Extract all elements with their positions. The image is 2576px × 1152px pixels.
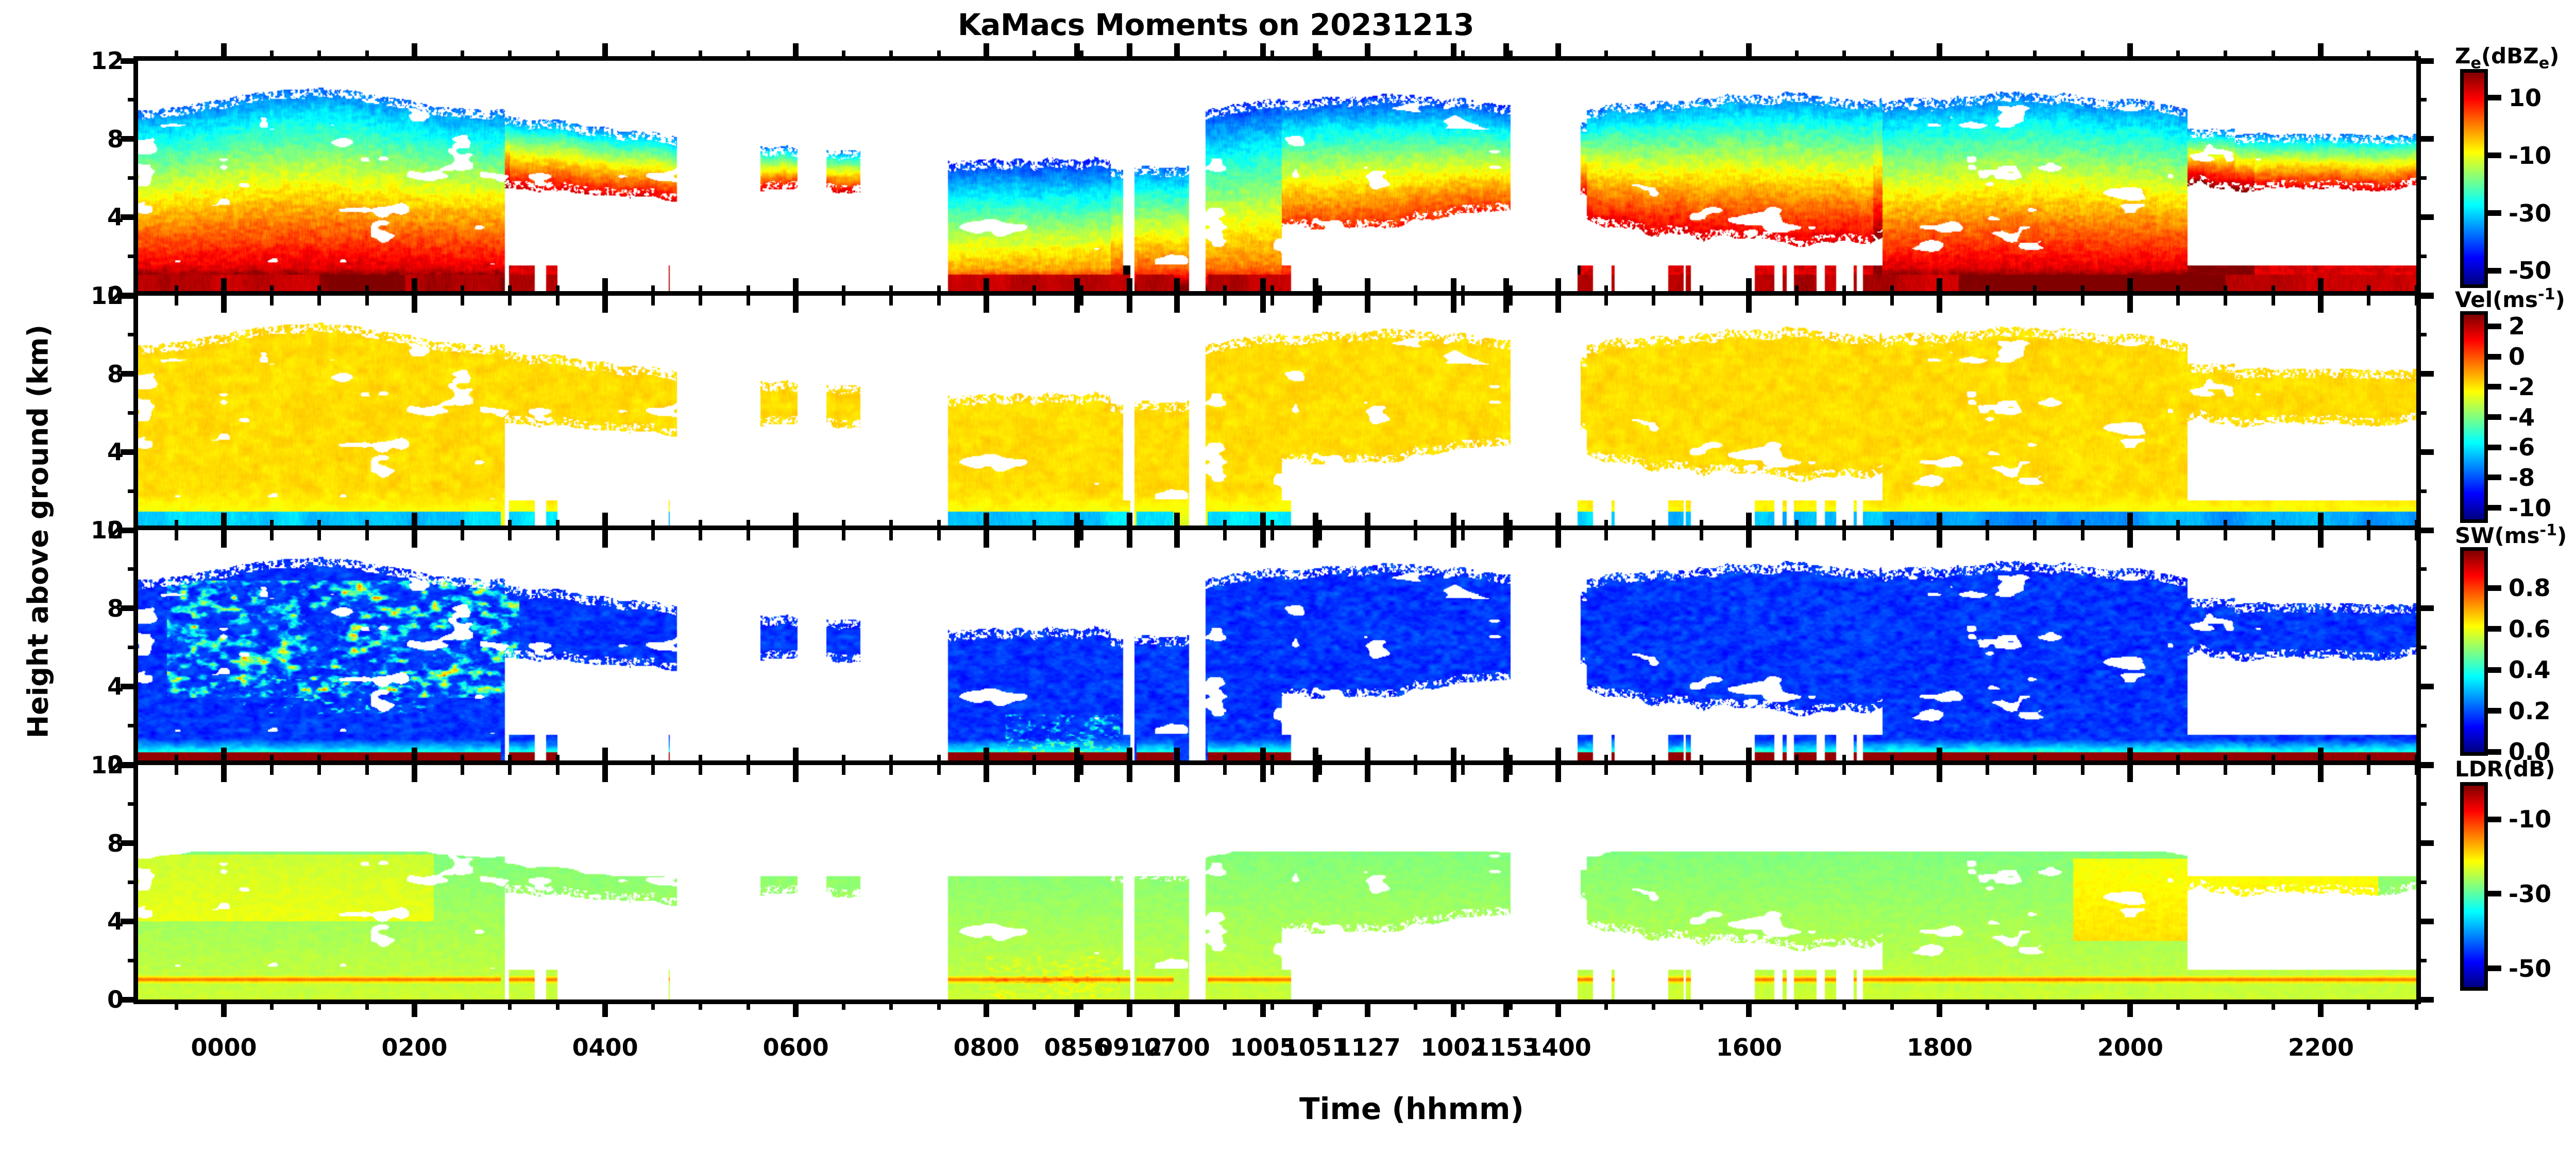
x-tick-major	[412, 999, 417, 1017]
x-tick-major	[984, 999, 989, 1017]
vel-colorbar-tick	[2488, 384, 2501, 389]
x-tick-minor-top	[1318, 755, 1322, 765]
x-tick-major	[1746, 999, 1752, 1017]
x-tick-minor-top	[1270, 285, 1274, 296]
y-tick-minor	[128, 98, 138, 101]
y-tick-minor	[128, 176, 138, 180]
x-tick-minor-top	[1414, 755, 1417, 765]
x-tick-major-top	[984, 513, 989, 530]
y-tick-minor-right	[2416, 176, 2427, 180]
x-tick-minor-top	[317, 285, 321, 296]
x-tick-minor-top	[175, 50, 178, 61]
x-tick-major-top	[221, 513, 227, 530]
x-tick-minor	[651, 999, 655, 1010]
x-tick-minor-top	[1223, 50, 1227, 61]
y-tick-minor	[128, 411, 138, 415]
x-tick-minor-top	[1795, 520, 1799, 530]
y-tick-label: 12	[57, 751, 124, 779]
x-tick-minor-top	[699, 50, 702, 61]
x-tick-major-top	[1365, 278, 1370, 296]
x-tick-major-top	[984, 43, 989, 61]
x-tick-minor	[699, 765, 702, 775]
x-tick-major	[1313, 295, 1318, 313]
y-tick-label: 8	[57, 360, 124, 388]
panel-vel	[133, 291, 2421, 535]
y-tick-minor	[128, 802, 138, 806]
x-tick-minor	[2272, 765, 2275, 775]
x-tick-minor-top	[937, 50, 941, 61]
x-tick-label: 0700	[1144, 1034, 1210, 1061]
x-tick-minor-top	[1652, 755, 1655, 765]
x-tick-minor-top	[317, 755, 321, 765]
x-tick-major	[1555, 765, 1561, 782]
sw-colorbar-tick	[2488, 708, 2501, 714]
x-tick-major-top	[2127, 43, 2133, 61]
x-tick-major-top	[1451, 43, 1456, 61]
x-tick-major	[2127, 999, 2133, 1017]
x-tick-minor-top	[556, 285, 560, 296]
x-tick-minor	[651, 765, 655, 775]
ldr-colorbar-tick	[2488, 891, 2501, 896]
x-tick-major	[1074, 295, 1080, 313]
x-tick-major-top	[2318, 748, 2324, 765]
vel-colorbar-tick	[2488, 505, 2501, 511]
x-tick-minor-top	[461, 285, 464, 296]
x-tick-major	[412, 530, 417, 548]
x-tick-minor	[2033, 530, 2037, 540]
y-tick-label: 0	[57, 986, 124, 1013]
x-tick-minor	[1414, 530, 1417, 540]
x-tick-minor	[2176, 765, 2180, 775]
x-tick-major	[1174, 295, 1180, 313]
y-tick-label: 8	[57, 829, 124, 857]
x-tick-minor-top	[1080, 755, 1083, 765]
y-tick-minor	[128, 255, 138, 258]
x-tick-minor-top	[1318, 50, 1322, 61]
x-tick-major	[412, 295, 417, 313]
x-tick-major-top	[221, 748, 227, 765]
x-tick-minor	[1652, 999, 1655, 1010]
panel-sw-heatmap	[138, 530, 2416, 765]
x-tick-major-top	[2318, 513, 2324, 530]
x-tick-minor-top	[2367, 520, 2370, 530]
y-tick-minor	[128, 880, 138, 884]
x-tick-minor	[2176, 999, 2180, 1010]
x-tick-minor-top	[2224, 285, 2227, 296]
x-tick-minor-top	[1080, 285, 1083, 296]
x-tick-minor	[365, 295, 369, 306]
x-tick-major-top	[1260, 43, 1266, 61]
y-tick-minor-right	[2416, 489, 2427, 493]
x-tick-minor	[365, 765, 369, 775]
x-tick-minor	[937, 295, 941, 306]
x-tick-minor	[1509, 530, 1513, 540]
x-tick-minor	[747, 295, 750, 306]
x-tick-minor-top	[1842, 285, 1846, 296]
x-tick-major-top	[1313, 748, 1318, 765]
z-colorbar-tick	[2488, 210, 2501, 216]
x-tick-major	[1503, 765, 1509, 782]
x-tick-minor-top	[2176, 755, 2180, 765]
x-tick-major-top	[1174, 278, 1180, 296]
sw-colorbar-tick-label: 0.4	[2509, 656, 2551, 684]
x-tick-minor	[1509, 295, 1513, 306]
x-tick-minor	[889, 530, 893, 540]
x-tick-minor-top	[270, 50, 274, 61]
x-tick-minor-top	[2033, 520, 2037, 530]
x-tick-minor	[1604, 530, 1608, 540]
x-tick-minor-top	[842, 520, 845, 530]
x-tick-major-top	[1074, 278, 1080, 296]
x-tick-minor-top	[1080, 520, 1083, 530]
x-tick-major	[793, 999, 799, 1017]
x-tick-minor-top	[1032, 285, 1036, 296]
x-tick-label: 1400	[1526, 1034, 1591, 1061]
x-tick-minor-top	[1652, 285, 1655, 296]
x-tick-minor	[699, 530, 702, 540]
x-tick-minor-top	[1795, 50, 1799, 61]
x-tick-minor	[1890, 765, 1894, 775]
x-tick-minor-top	[699, 285, 702, 296]
x-tick-minor	[1842, 999, 1846, 1010]
x-tick-major-top	[602, 513, 608, 530]
x-tick-minor-top	[1032, 755, 1036, 765]
x-tick-minor	[1318, 999, 1322, 1010]
x-tick-minor	[2081, 765, 2084, 775]
x-tick-major	[221, 765, 227, 782]
x-tick-minor-top	[2081, 520, 2084, 530]
sw-colorbar-title: SW(ms-1)	[2455, 521, 2567, 548]
x-tick-major-top	[1174, 748, 1180, 765]
x-tick-minor	[2033, 765, 2037, 775]
x-tick-minor	[937, 530, 941, 540]
x-tick-major-top	[1503, 43, 1509, 61]
x-tick-major-top	[1503, 278, 1509, 296]
x-tick-minor	[317, 530, 321, 540]
x-tick-major	[793, 765, 799, 782]
x-tick-minor	[1842, 295, 1846, 306]
x-tick-major-top	[1074, 748, 1080, 765]
x-tick-minor	[1080, 999, 1083, 1010]
x-tick-minor-top	[1223, 755, 1227, 765]
x-tick-major	[221, 999, 227, 1017]
x-tick-minor	[461, 295, 464, 306]
x-tick-minor-top	[365, 285, 369, 296]
x-tick-major-top	[1451, 278, 1456, 296]
x-tick-minor-top	[270, 520, 274, 530]
x-tick-minor	[889, 999, 893, 1010]
x-tick-minor-top	[1604, 50, 1608, 61]
x-tick-major	[1746, 530, 1752, 548]
x-tick-minor	[508, 999, 512, 1010]
y-tick-major-right	[2416, 684, 2434, 689]
y-tick-minor-right	[2416, 959, 2427, 962]
x-tick-minor	[889, 295, 893, 306]
x-tick-major	[602, 765, 608, 782]
x-tick-major	[1260, 530, 1266, 548]
x-tick-major-top	[1937, 43, 1942, 61]
x-tick-minor	[1318, 530, 1322, 540]
x-tick-minor-top	[1461, 520, 1465, 530]
y-tick-minor	[128, 724, 138, 727]
vel-colorbar-tick	[2488, 324, 2501, 329]
x-tick-minor-top	[508, 50, 512, 61]
x-tick-minor-top	[2272, 285, 2275, 296]
x-tick-minor	[1318, 765, 1322, 775]
y-tick-minor-right	[2416, 646, 2427, 649]
x-tick-minor	[365, 999, 369, 1010]
x-tick-minor-top	[317, 50, 321, 61]
x-tick-minor	[2081, 999, 2084, 1010]
x-tick-minor-top	[1652, 520, 1655, 530]
x-tick-minor	[747, 765, 750, 775]
z-colorbar-tick-label: 10	[2509, 84, 2541, 112]
vel-colorbar-tick-label: -4	[2509, 403, 2535, 431]
x-tick-minor	[1509, 765, 1513, 775]
x-tick-minor-top	[508, 520, 512, 530]
x-tick-minor	[2224, 530, 2227, 540]
x-tick-minor	[1795, 999, 1799, 1010]
x-tick-major	[1555, 295, 1561, 313]
x-tick-major	[1313, 765, 1318, 782]
x-tick-minor-top	[1461, 50, 1465, 61]
x-tick-minor	[317, 295, 321, 306]
x-tick-minor	[1032, 999, 1036, 1010]
x-tick-minor	[461, 530, 464, 540]
panel-sw	[133, 526, 2421, 769]
x-tick-minor	[1509, 999, 1513, 1010]
x-tick-minor	[1842, 530, 1846, 540]
x-tick-minor-top	[889, 520, 893, 530]
vel-colorbar-tick-label: -10	[2509, 494, 2551, 522]
y-tick-label: 12	[57, 516, 124, 544]
x-tick-minor	[1414, 999, 1417, 1010]
x-tick-major-top	[1174, 513, 1180, 530]
x-tick-minor-top	[2033, 285, 2037, 296]
x-tick-minor-top	[1842, 50, 1846, 61]
x-tick-major	[1503, 530, 1509, 548]
x-tick-minor-top	[889, 50, 893, 61]
x-tick-minor-top	[175, 755, 178, 765]
x-tick-minor-top	[2224, 50, 2227, 61]
x-tick-label: 1800	[1907, 1034, 1973, 1061]
x-tick-minor	[1652, 765, 1655, 775]
x-tick-minor	[1604, 999, 1608, 1010]
x-tick-minor-top	[1700, 50, 1703, 61]
x-tick-minor	[317, 999, 321, 1010]
x-tick-label: 2200	[2288, 1034, 2354, 1061]
x-tick-major	[221, 295, 227, 313]
vel-colorbar-gradient	[2460, 311, 2488, 523]
ldr-colorbar-tick-label: -30	[2509, 880, 2551, 908]
x-tick-minor	[842, 999, 845, 1010]
x-tick-major	[1260, 295, 1266, 313]
x-tick-major-top	[2127, 278, 2133, 296]
x-tick-major	[1365, 295, 1370, 313]
x-tick-label: 2000	[2097, 1034, 2163, 1061]
x-tick-minor-top	[2081, 50, 2084, 61]
x-tick-minor	[1700, 530, 1703, 540]
sw-colorbar-tick	[2488, 626, 2501, 632]
x-tick-minor-top	[1795, 285, 1799, 296]
x-tick-minor	[508, 295, 512, 306]
x-tick-major-top	[2127, 748, 2133, 765]
x-tick-minor	[1461, 295, 1465, 306]
x-tick-minor	[1223, 765, 1227, 775]
x-tick-minor-top	[556, 520, 560, 530]
x-tick-major	[984, 765, 989, 782]
panel-ldr-heatmap	[138, 765, 2416, 999]
x-tick-minor-top	[1842, 520, 1846, 530]
y-tick-minor-right	[2416, 567, 2427, 571]
x-tick-minor-top	[1509, 285, 1513, 296]
sw-colorbar-tick-label: 0.8	[2509, 574, 2551, 602]
x-tick-major	[2318, 765, 2324, 782]
x-tick-minor	[270, 999, 274, 1010]
x-tick-major-top	[1313, 278, 1318, 296]
x-tick-minor-top	[2224, 755, 2227, 765]
x-tick-minor-top	[1795, 755, 1799, 765]
y-tick-major-right	[2416, 840, 2434, 846]
x-tick-major-top	[412, 278, 417, 296]
y-tick-minor-right	[2416, 98, 2427, 101]
x-tick-minor-top	[1604, 285, 1608, 296]
x-tick-minor-top	[2033, 50, 2037, 61]
x-tick-minor-top	[937, 755, 941, 765]
panel-z-heatmap	[138, 61, 2416, 295]
x-tick-minor	[365, 530, 369, 540]
x-tick-minor	[842, 765, 845, 775]
y-tick-major-right	[2416, 997, 2434, 1003]
x-tick-minor	[317, 765, 321, 775]
x-tick-minor-top	[1414, 50, 1417, 61]
x-tick-major	[1313, 530, 1318, 548]
x-tick-label: 1600	[1716, 1034, 1782, 1061]
x-tick-minor-top	[747, 755, 750, 765]
x-tick-minor-top	[2415, 755, 2418, 765]
x-tick-major	[412, 765, 417, 782]
x-tick-major	[2318, 530, 2324, 548]
x-tick-minor	[1461, 999, 1465, 1010]
y-tick-major-right	[2416, 528, 2434, 533]
vel-colorbar-tick	[2488, 354, 2501, 360]
x-tick-minor	[2272, 295, 2275, 306]
x-tick-minor	[1461, 530, 1465, 540]
x-tick-minor-top	[2033, 755, 2037, 765]
x-tick-minor	[1223, 295, 1227, 306]
x-tick-minor-top	[556, 755, 560, 765]
x-tick-major	[1451, 765, 1456, 782]
ldr-colorbar-tick	[2488, 965, 2501, 971]
x-tick-minor-top	[1270, 50, 1274, 61]
x-tick-major-top	[1313, 43, 1318, 61]
x-tick-major	[1451, 999, 1456, 1017]
x-tick-minor	[1890, 530, 1894, 540]
x-tick-minor-top	[1890, 285, 1894, 296]
x-tick-minor	[1890, 295, 1894, 306]
x-tick-minor-top	[2367, 285, 2370, 296]
x-tick-minor	[1032, 530, 1036, 540]
x-tick-minor-top	[175, 520, 178, 530]
x-tick-minor-top	[1270, 520, 1274, 530]
x-tick-major	[1174, 765, 1180, 782]
x-tick-minor	[1270, 999, 1274, 1010]
x-tick-minor	[1032, 295, 1036, 306]
x-tick-minor	[1890, 999, 1894, 1010]
x-tick-minor	[842, 530, 845, 540]
x-tick-minor	[1223, 530, 1227, 540]
x-tick-minor	[1414, 765, 1417, 775]
x-tick-minor	[1032, 765, 1036, 775]
x-tick-major	[2127, 765, 2133, 782]
z-colorbar-tick-label: -30	[2509, 199, 2551, 227]
x-tick-minor	[1700, 999, 1703, 1010]
x-tick-minor	[2224, 295, 2227, 306]
vel-colorbar-tick-label: -8	[2509, 464, 2535, 492]
x-tick-minor-top	[508, 285, 512, 296]
x-tick-minor-top	[2176, 285, 2180, 296]
x-tick-major-top	[412, 748, 417, 765]
x-tick-minor-top	[2224, 520, 2227, 530]
y-tick-major-right	[2416, 763, 2434, 768]
x-tick-minor	[175, 765, 178, 775]
x-tick-minor	[1795, 295, 1799, 306]
x-tick-minor-top	[2367, 755, 2370, 765]
x-tick-minor	[508, 530, 512, 540]
x-tick-minor	[556, 295, 560, 306]
z-colorbar-tick	[2488, 268, 2501, 274]
x-tick-major	[1313, 999, 1318, 1017]
x-tick-minor	[175, 295, 178, 306]
x-tick-minor	[556, 765, 560, 775]
x-tick-minor-top	[937, 520, 941, 530]
x-tick-minor	[1986, 295, 1989, 306]
x-tick-minor	[1080, 295, 1083, 306]
vel-colorbar-tick-label: 2	[2509, 312, 2525, 340]
x-tick-minor	[2367, 999, 2370, 1010]
x-tick-minor-top	[842, 755, 845, 765]
x-tick-minor-top	[175, 285, 178, 296]
x-tick-minor-top	[508, 755, 512, 765]
x-tick-major	[1127, 765, 1132, 782]
x-tick-minor	[1795, 765, 1799, 775]
y-tick-label: 12	[57, 47, 124, 75]
sw-colorbar-tick-label: 0.2	[2509, 697, 2551, 725]
x-tick-minor-top	[2272, 755, 2275, 765]
x-tick-minor	[1652, 295, 1655, 306]
y-tick-label: 8	[57, 595, 124, 622]
x-tick-minor	[2415, 999, 2418, 1010]
x-tick-minor	[556, 999, 560, 1010]
x-tick-minor-top	[747, 50, 750, 61]
x-tick-minor-top	[1986, 755, 1989, 765]
x-tick-minor	[508, 765, 512, 775]
vel-colorbar-tick-label: 0	[2509, 343, 2525, 370]
sw-colorbar-tick	[2488, 667, 2501, 673]
x-tick-major-top	[1174, 43, 1180, 61]
x-tick-minor-top	[747, 520, 750, 530]
x-tick-major	[1937, 295, 1942, 313]
x-tick-minor-top	[270, 755, 274, 765]
x-tick-minor-top	[699, 755, 702, 765]
x-tick-major-top	[412, 513, 417, 530]
y-tick-major-right	[2416, 919, 2434, 924]
x-tick-minor-top	[1318, 520, 1322, 530]
x-tick-minor-top	[1509, 520, 1513, 530]
x-tick-minor-top	[937, 285, 941, 296]
x-tick-minor-top	[651, 520, 655, 530]
x-tick-major	[1174, 999, 1180, 1017]
